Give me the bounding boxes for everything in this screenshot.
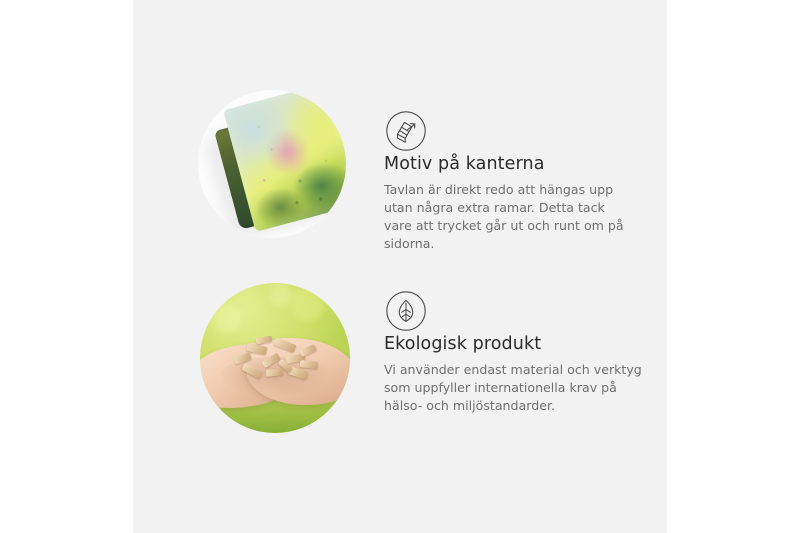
feature-block-edges: Motiv på kanterna Tavlan är direkt redo … [133, 78, 667, 258]
leaf-icon [385, 290, 427, 332]
canvas-wrapped-edge-icon [385, 110, 427, 152]
feature-title: Ekologisk produkt [384, 334, 664, 355]
feature-block-eco: Ekologisk produkt Vi använder endast mat… [133, 270, 667, 435]
feature-title: Motiv på kanterna [384, 154, 654, 175]
feature-text-eco: Ekologisk produkt Vi använder endast mat… [384, 334, 664, 415]
eco-photo-scene [200, 283, 350, 433]
infographic-stage: Motiv på kanterna Tavlan är direkt redo … [0, 0, 800, 533]
canvas-photo-scene [198, 90, 346, 238]
feature-text-edges: Motiv på kanterna Tavlan är direkt redo … [384, 154, 654, 253]
hands-holding-wood-chips-photo [200, 283, 350, 433]
wood-chips-cluster [230, 333, 326, 385]
canvas-print-corner-photo [198, 90, 346, 238]
feature-description: Tavlan är direkt redo att hängas upp uta… [384, 181, 634, 253]
feature-description: Vi använder endast material och verktyg … [384, 361, 656, 415]
